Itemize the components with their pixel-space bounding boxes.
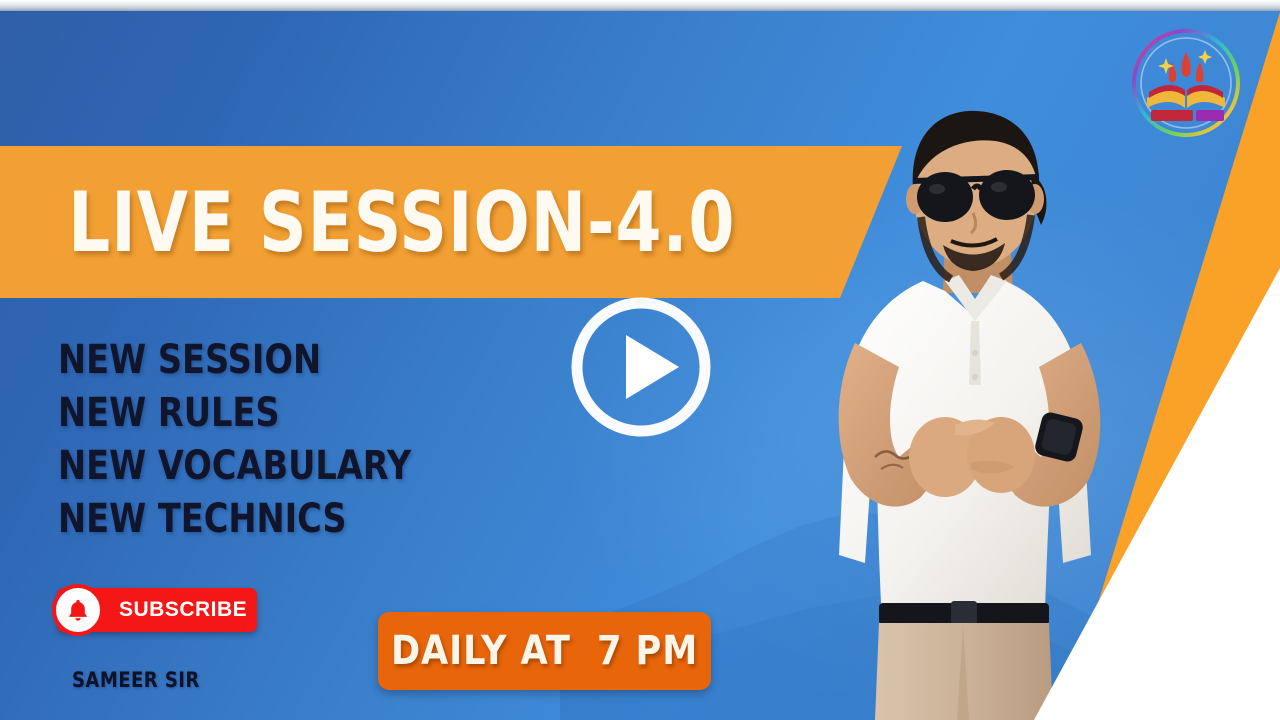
schedule-badge[interactable]: DAILY AT 7 PM xyxy=(378,612,711,690)
feature-list: NEW SESSION NEW RULES NEW VOCABULARY NEW… xyxy=(58,334,578,546)
page-title: LIVE SESSION-4.0 xyxy=(68,146,735,298)
schedule-label: DAILY AT 7 PM xyxy=(391,628,698,674)
list-item: NEW TECHNICS xyxy=(58,493,495,546)
title-banner: LIVE SESSION-4.0 xyxy=(0,146,910,298)
top-edge-strip xyxy=(0,0,1280,11)
thumbnail-stage: LIVE SESSION-4.0 NEW SESSION NEW RULES N… xyxy=(0,0,1280,720)
list-item: NEW RULES xyxy=(58,387,495,440)
subscribe-button[interactable]: SUBSCRIBE xyxy=(57,588,257,632)
notification-bell-icon xyxy=(52,584,104,636)
channel-book-logo-icon xyxy=(1125,22,1247,144)
subscribe-label: SUBSCRIBE xyxy=(119,598,247,622)
list-item: NEW SESSION xyxy=(58,334,495,387)
play-button[interactable] xyxy=(566,292,716,442)
list-item: NEW VOCABULARY xyxy=(58,440,495,493)
host-name: SAMEER SIR xyxy=(72,668,200,692)
